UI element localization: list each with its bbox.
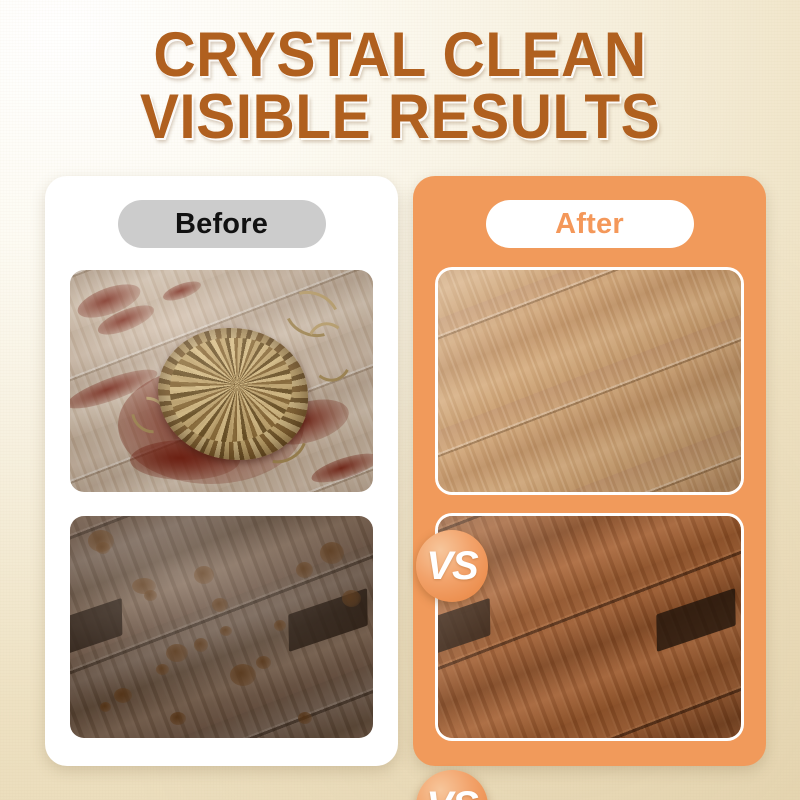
before-label-text: Before: [175, 208, 268, 241]
title-line-2: VISIBLE RESULTS: [28, 86, 772, 148]
before-label-pill: Before: [118, 200, 326, 248]
after-label-pill: After: [486, 200, 694, 248]
page-title: CRYSTAL CLEAN VISIBLE RESULTS: [0, 24, 800, 148]
before-bottom-lighting: [70, 516, 373, 738]
vs-badge-bottom: VS: [416, 770, 488, 800]
before-top-lighting: [70, 270, 373, 492]
title-line-1: CRYSTAL CLEAN: [28, 24, 772, 86]
after-panel: After: [413, 176, 766, 766]
after-top-lighting: [438, 270, 741, 492]
before-after-comparison: Before: [45, 176, 755, 766]
vs-badge-top-label: VS: [426, 546, 477, 586]
after-label-text: After: [555, 208, 624, 241]
before-image-stained-floor: [70, 516, 373, 738]
before-image-spaghetti: [70, 270, 373, 492]
vs-badge-bottom-label: VS: [426, 786, 477, 800]
vs-badge-top: VS: [416, 530, 488, 602]
before-panel: Before: [45, 176, 398, 766]
after-image-clean-light-floor: [438, 270, 741, 492]
